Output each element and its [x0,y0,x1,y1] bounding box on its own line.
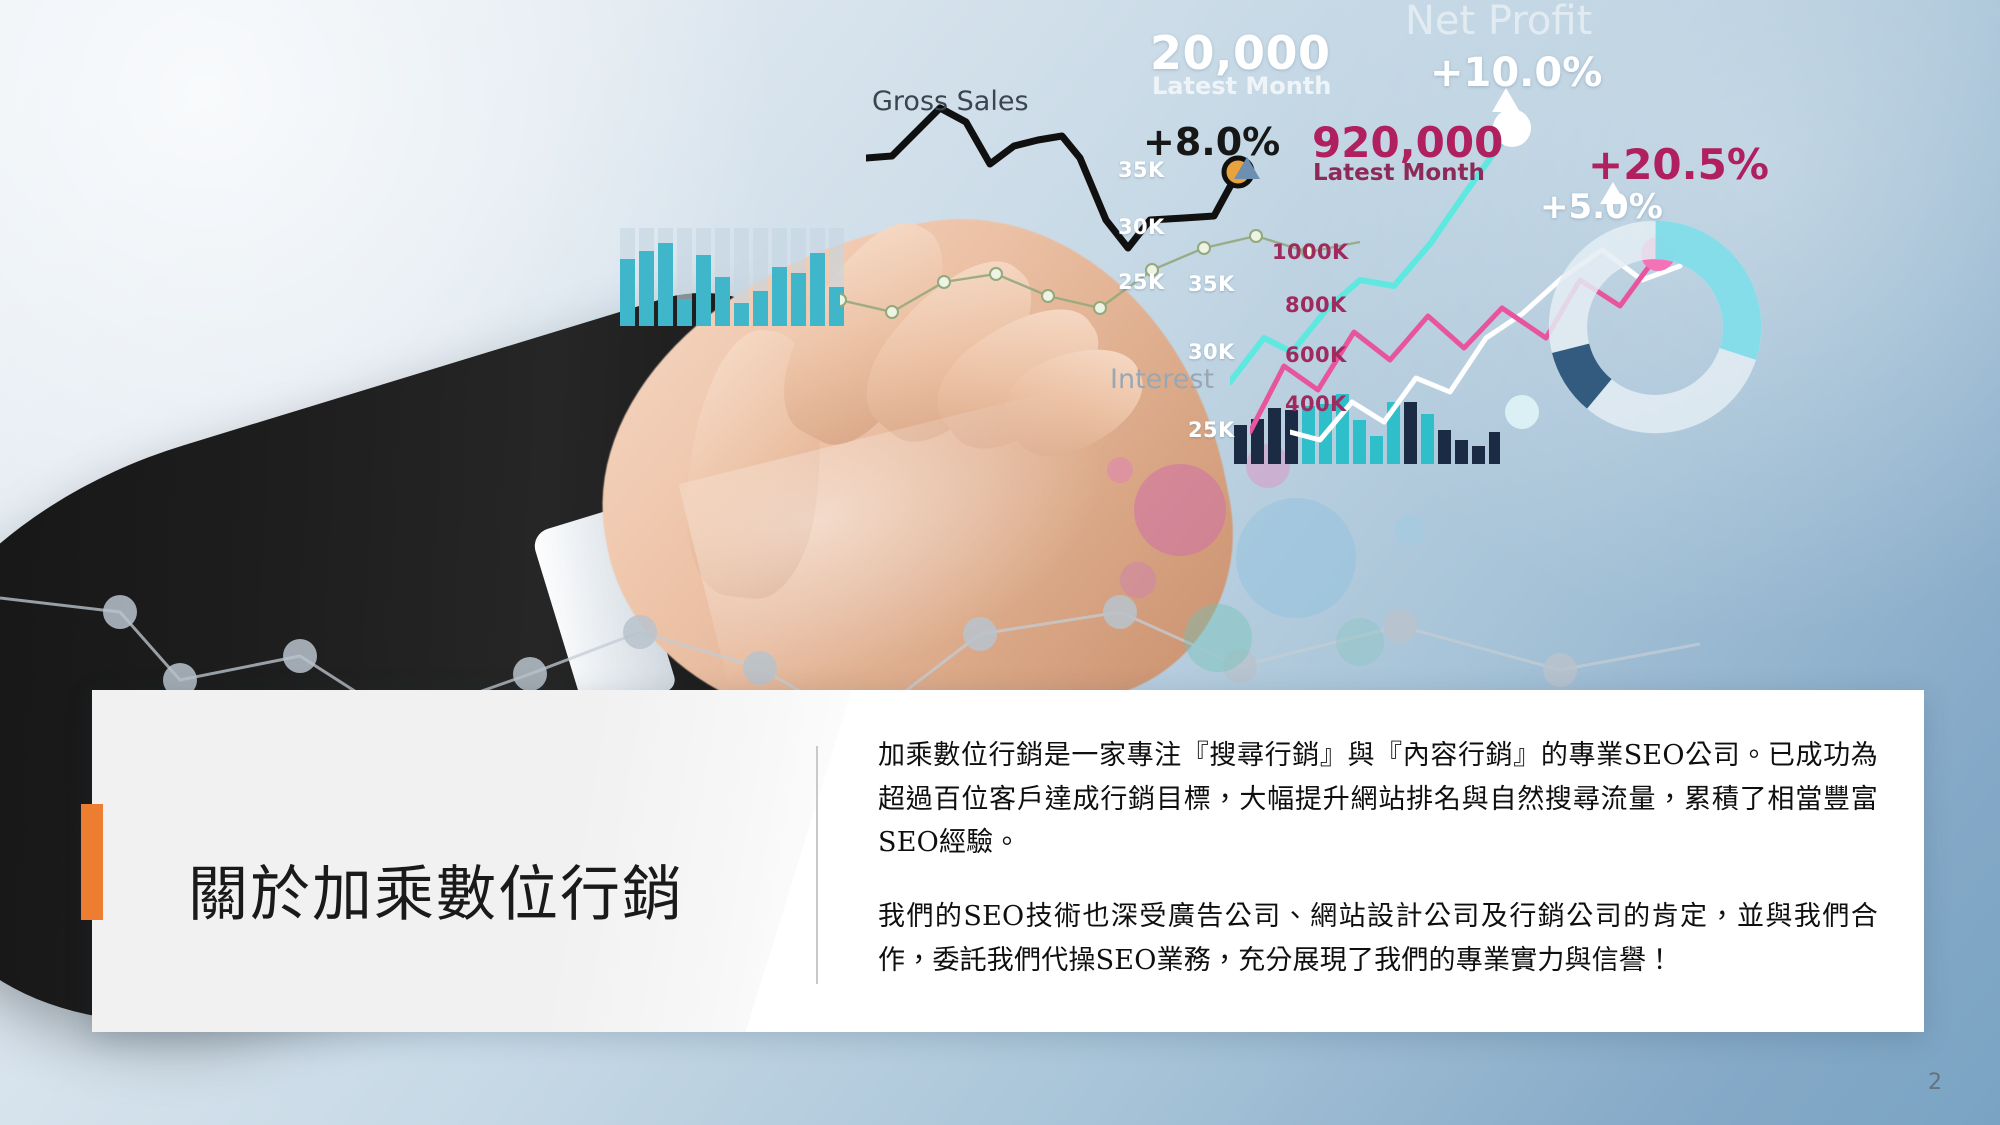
axis-tick-30k-a: 30K [1118,215,1165,239]
net-profit-caption: Latest Month [1313,160,1485,186]
body-paragraph-2: 我們的SEO技術也深受廣告公司、網站設計公司及行銷公司的肯定，並與我們合作，委託… [878,895,1878,982]
up-arrow-icon-white-b [1598,180,1628,206]
vertical-divider [816,746,818,984]
axis-tick-30k-b: 30K [1188,340,1235,364]
axis-tick-35k-a: 35K [1118,158,1165,182]
content-card: 關於加乘數位行銷 加乘數位行銷是一家專注『搜尋行銷』與『內容行銷』的專業SEO公… [92,690,1924,1032]
axis-tick-400k: 400K [1285,392,1347,416]
orange-accent-bar [81,804,103,920]
net-profit-label: Net Profit [1405,0,1592,44]
page-title: 關於加乘數位行銷 [188,864,788,927]
gross-sales-caption: Latest Month [1152,72,1331,100]
donut-chart [1540,212,1770,442]
up-arrow-icon-blue [1232,155,1262,181]
axis-tick-1000k: 1000K [1272,240,1349,264]
up-arrow-icon-white-a [1490,86,1522,114]
interest-label: Interest [1110,364,1214,395]
axis-tick-35k-b: 35K [1188,272,1235,296]
page-number: 2 [1928,1070,1942,1095]
slide: Gross Sales Interest Net Profit 20,000 L… [0,0,2000,1125]
body-paragraph-1: 加乘數位行銷是一家專注『搜尋行銷』與『內容行銷』的專業SEO公司。已成功為超過百… [878,734,1878,865]
axis-tick-25k-a: 25K [1118,270,1165,294]
axis-tick-800k: 800K [1285,293,1347,317]
axis-tick-600k: 600K [1285,343,1347,367]
body-text-column: 加乘數位行銷是一家專注『搜尋行銷』與『內容行銷』的專業SEO公司。已成功為超過百… [878,734,1878,983]
left-bar-chart [618,228,858,326]
axis-tick-25k-b: 25K [1188,418,1235,442]
gross-sales-label: Gross Sales [872,86,1029,117]
